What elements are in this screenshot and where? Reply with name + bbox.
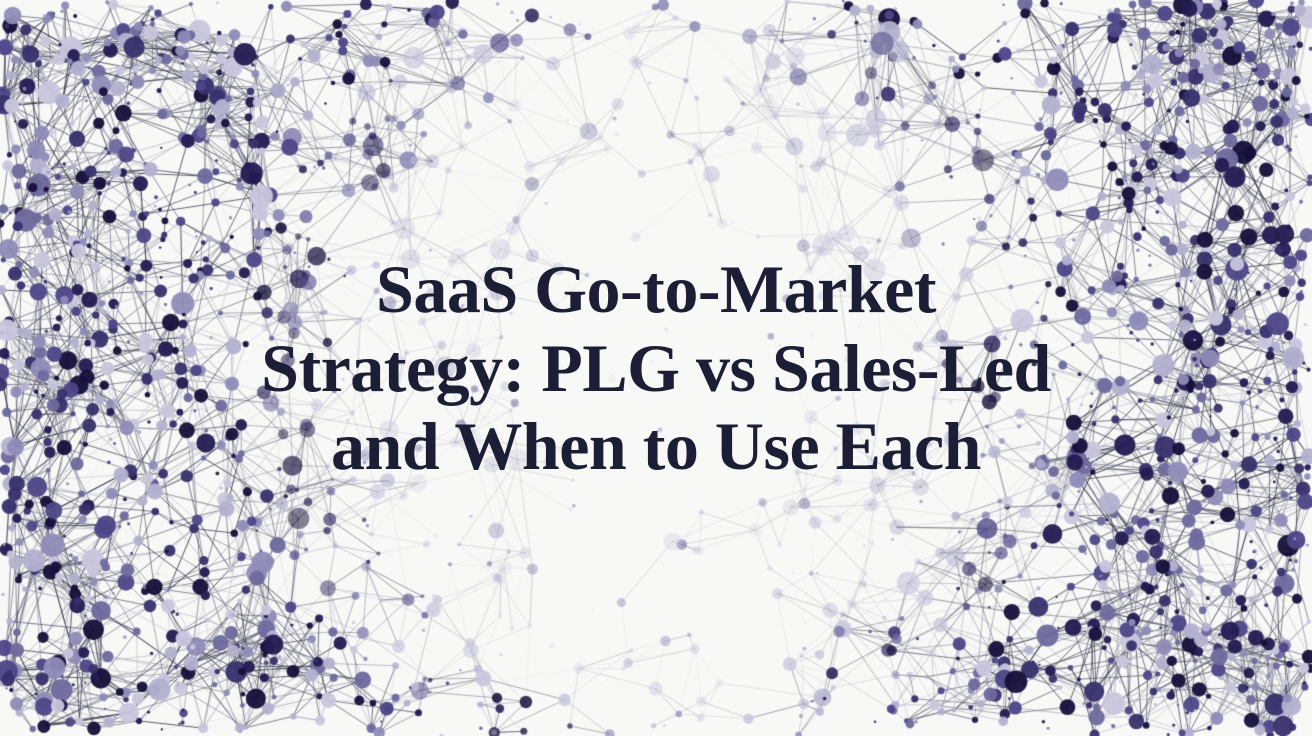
slide-canvas: SaaS Go-to-Market Strategy: PLG vs Sales… [0,0,1312,736]
network-graph-decoration [0,0,1312,736]
